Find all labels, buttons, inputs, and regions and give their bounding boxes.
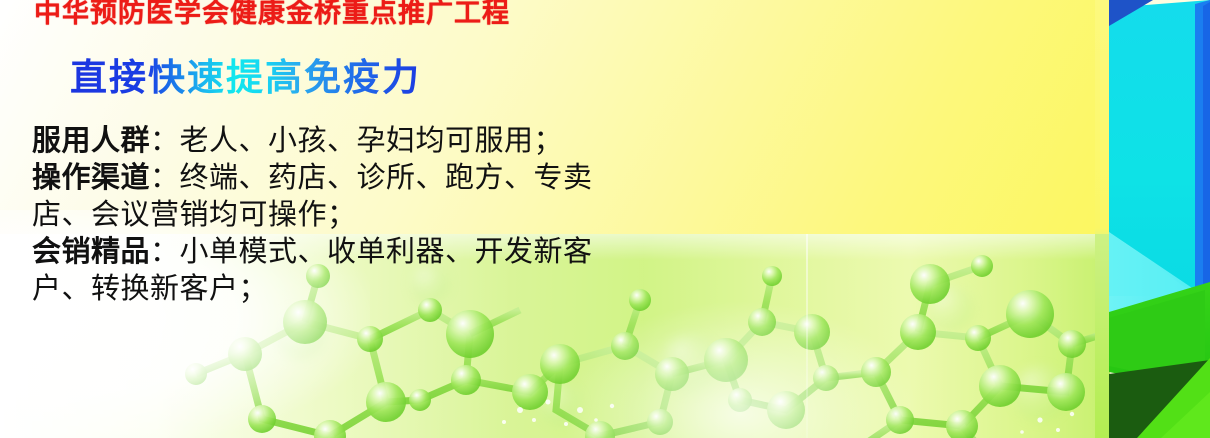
page-headline: 中华预防医学会健康金桥重点推广工程 bbox=[34, 0, 510, 30]
panel-geometric-shapes bbox=[1109, 0, 1210, 438]
background-seam bbox=[806, 234, 808, 438]
body-line-3b: 户、转换新客户； bbox=[32, 270, 732, 307]
poster-canvas: 中华预防医学会健康金桥重点推广工程 直接快速提高免疫力 服用人群：老人、小孩、孕… bbox=[0, 0, 1210, 438]
body-label-2: 操作渠道 bbox=[32, 160, 150, 194]
body-line-1: 服用人群：老人、小孩、孕妇均可服用； bbox=[32, 122, 732, 159]
body-label-3: 会销精品 bbox=[32, 234, 150, 268]
right-decoration-panel bbox=[1095, 0, 1210, 438]
body-sep-3: ： bbox=[150, 234, 180, 268]
background-bloom-center bbox=[560, 300, 920, 438]
body-sep-1: ： bbox=[150, 123, 180, 157]
panel-edge-strip-green bbox=[1095, 234, 1110, 438]
body-line-2a: 操作渠道：终端、药店、诊所、跑方、专卖 bbox=[32, 159, 732, 196]
body-sep-2: ： bbox=[150, 160, 180, 194]
page-subheadline: 直接快速提高免疫力 bbox=[70, 47, 421, 101]
body-line-3a: 会销精品：小单模式、收单利器、开发新客 bbox=[32, 233, 732, 270]
body-value-2a: 终端、药店、诊所、跑方、专卖 bbox=[180, 160, 593, 194]
body-label-1: 服用人群 bbox=[32, 123, 150, 157]
body-text-block: 服用人群：老人、小孩、孕妇均可服用； 操作渠道：终端、药店、诊所、跑方、专卖 店… bbox=[32, 122, 732, 307]
body-line-2b: 店、会议营销均可操作； bbox=[32, 196, 732, 233]
body-value-3a: 小单模式、收单利器、开发新客 bbox=[180, 234, 593, 268]
body-value-1: 老人、小孩、孕妇均可服用； bbox=[180, 123, 564, 157]
